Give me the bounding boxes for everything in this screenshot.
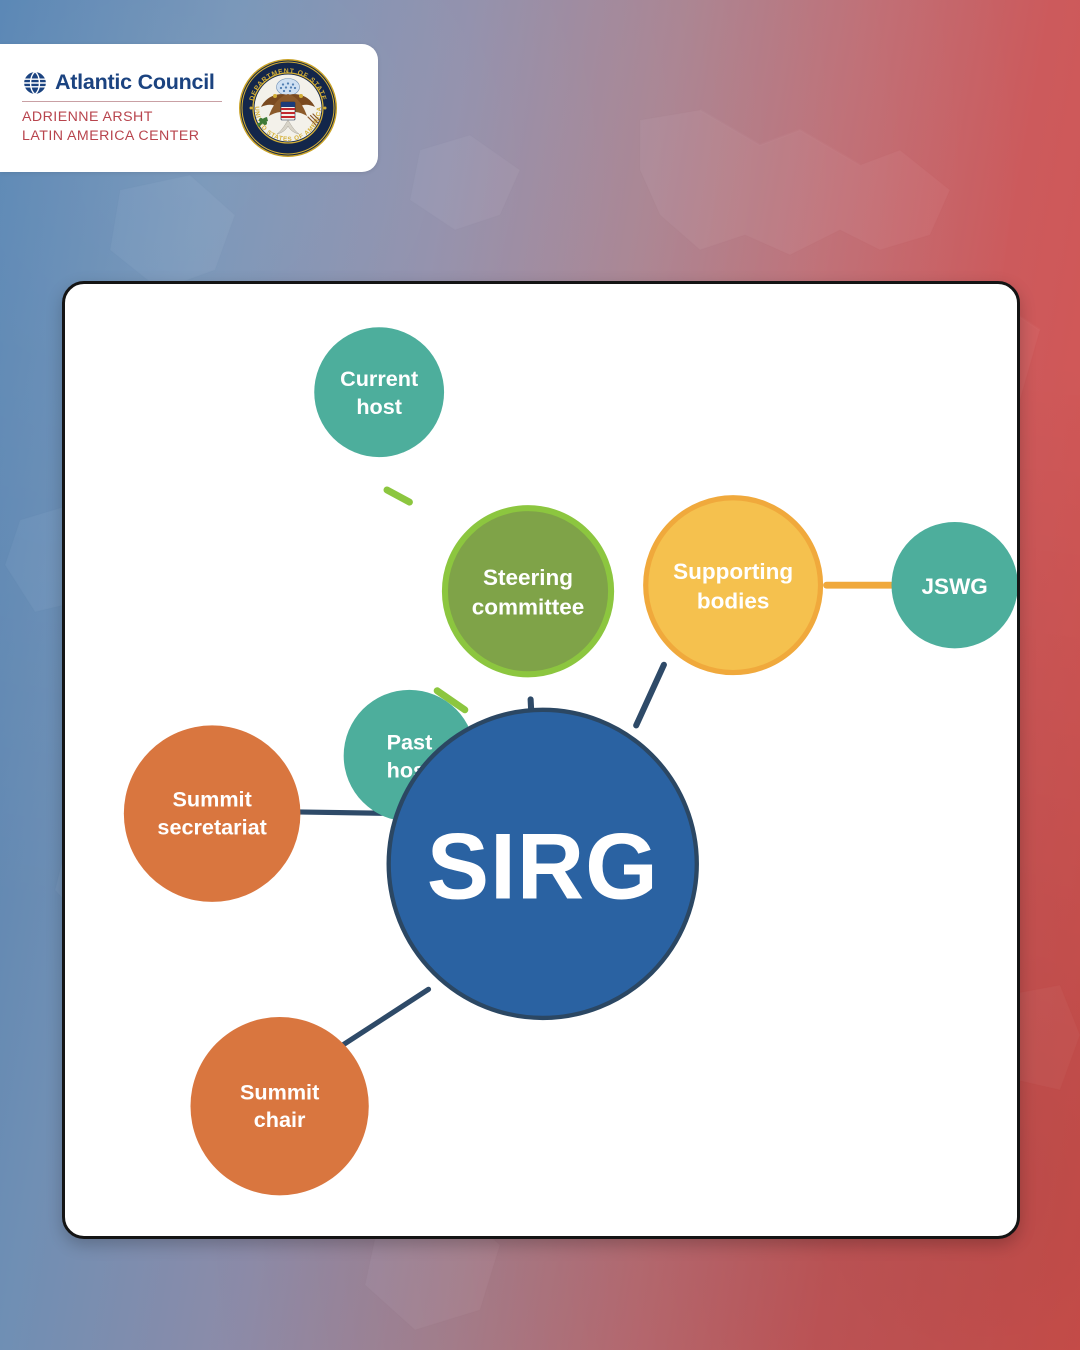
node-steering-committee-label-line2: committee (472, 595, 585, 620)
node-supporting-bodies-label-line1: Supporting (673, 559, 793, 584)
us-department-of-state-seal-icon: DEPARTMENT OF STATE UNITED STATES OF AME… (238, 58, 338, 158)
node-summit-secretariat-label-line2: secretariat (157, 814, 266, 839)
node-summit-chair[interactable]: Summit chair (190, 1017, 368, 1195)
edge-summit-chair-to-sirg (342, 989, 429, 1045)
logo-badge: Atlantic Council ADRIENNE ARSHT LATIN AM… (0, 44, 378, 172)
node-jswg[interactable]: JSWG (892, 522, 1017, 648)
node-summit-chair-label-line1: Summit (240, 1079, 319, 1104)
node-summit-chair-label-line2: chair (254, 1107, 306, 1132)
sirg-network-diagram: Current host Steering committee Past hos… (65, 284, 1017, 1236)
node-jswg-label: JSWG (922, 574, 988, 599)
node-sirg-hub[interactable]: SIRG (389, 710, 697, 1018)
atlantic-council-logo: Atlantic Council ADRIENNE ARSHT LATIN AM… (0, 70, 222, 146)
atlantic-council-name: Atlantic Council (55, 70, 215, 95)
edge-current-host-to-steering (387, 490, 410, 502)
node-summit-secretariat[interactable]: Summit secretariat (124, 725, 301, 902)
node-supporting-bodies[interactable]: Supporting bodies (646, 498, 821, 673)
logo-divider (22, 101, 222, 103)
globe-icon (22, 70, 48, 96)
node-current-host-label-line2: host (356, 394, 402, 419)
node-steering-committee-label-line1: Steering (483, 565, 573, 590)
arsht-center-line2: LATIN AMERICA CENTER (22, 127, 222, 146)
poster-stage: Atlantic Council ADRIENNE ARSHT LATIN AM… (0, 0, 1080, 1350)
diagram-card: Current host Steering committee Past hos… (62, 281, 1020, 1239)
node-current-host[interactable]: Current host (314, 327, 444, 457)
node-sirg-label: SIRG (427, 813, 659, 918)
state-department-seal-wrap: DEPARTMENT OF STATE UNITED STATES OF AME… (236, 56, 340, 160)
node-summit-secretariat-label-line1: Summit (172, 787, 251, 812)
edge-supporting-to-sirg (636, 665, 664, 726)
node-supporting-bodies-label-line2: bodies (697, 589, 770, 614)
arsht-center-line1: ADRIENNE ARSHT (22, 108, 222, 127)
node-current-host-label-line1: Current (340, 366, 418, 391)
node-steering-committee[interactable]: Steering committee (445, 508, 611, 674)
node-past-host-label-line1: Past (387, 730, 433, 755)
